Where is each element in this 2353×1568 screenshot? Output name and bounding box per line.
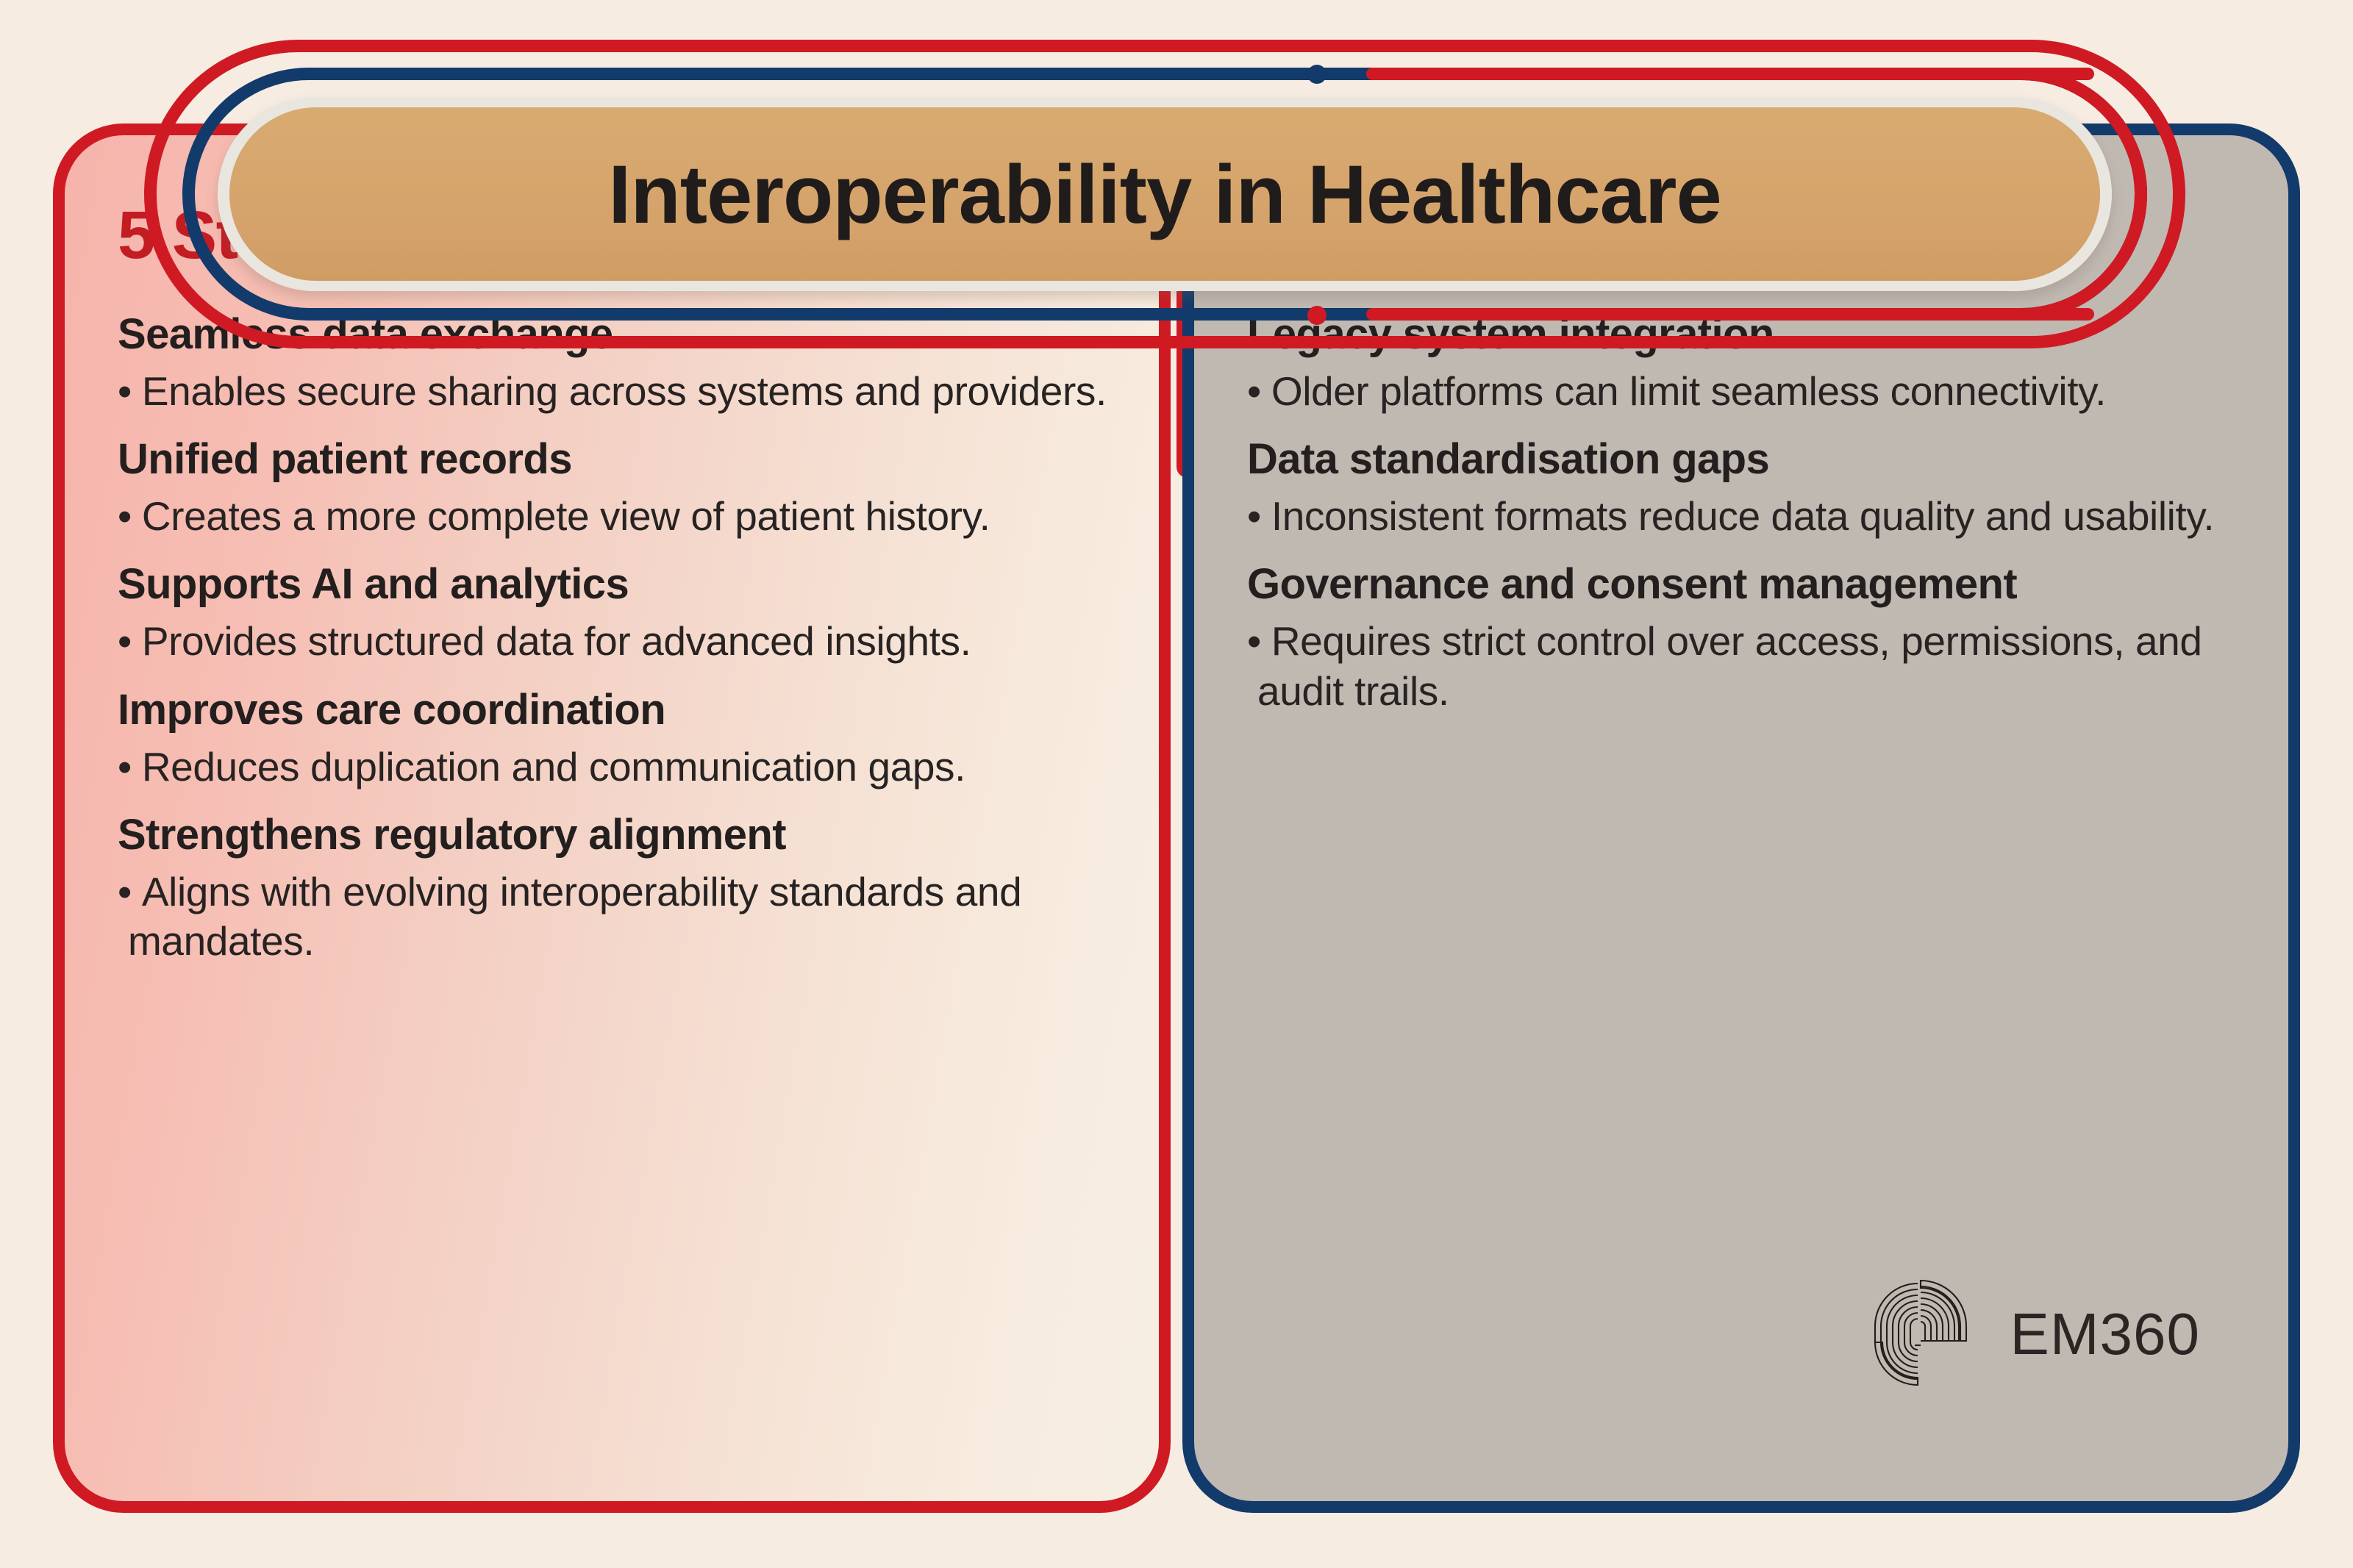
infographic-canvas: 5 Strategic Benefits Seamless data excha… [0, 0, 2353, 1568]
benefit-description: •Enables secure sharing across systems a… [118, 367, 1107, 416]
challenge-item: Data standardisation gaps •Inconsistent … [1247, 432, 2237, 541]
benefit-description-text: Enables secure sharing across systems an… [142, 368, 1107, 414]
bullet-icon: • [118, 869, 132, 914]
banner-mid-red-top-line [1366, 68, 2094, 80]
challenge-item: Governance and consent management •Requi… [1247, 557, 2237, 715]
benefit-description: •Creates a more complete view of patient… [118, 492, 1107, 541]
bullet-icon: • [1247, 493, 1261, 539]
header-banner: Interoperability in Healthcare [144, 40, 2185, 348]
bullet-icon: • [1247, 368, 1261, 414]
benefit-heading: Improves care coordination [118, 683, 1107, 737]
banner-mid-red-bottom-line [1366, 308, 2094, 321]
challenge-description: •Older platforms can limit seamless conn… [1247, 367, 2237, 416]
benefit-description: •Provides structured data for advanced i… [118, 617, 1107, 666]
benefit-description-text: Provides structured data for advanced in… [142, 618, 971, 664]
banner-pill: Interoperability in Healthcare [229, 107, 2100, 281]
challenge-description: •Inconsistent formats reduce data qualit… [1247, 492, 2237, 541]
challenge-description-text: Inconsistent formats reduce data quality… [1271, 493, 2214, 539]
em360-logo-mark [1850, 1264, 1997, 1404]
challenge-heading: Data standardisation gaps [1247, 432, 2237, 486]
benefit-description-text: Reduces duplication and communication ga… [142, 744, 965, 790]
benefit-item: Improves care coordination •Reduces dupl… [118, 683, 1107, 792]
benefit-item: Strengthens regulatory alignment •Aligns… [118, 808, 1107, 966]
em360-logo: EM360 [1850, 1264, 2200, 1404]
benefit-heading: Unified patient records [118, 432, 1107, 486]
challenge-description: •Requires strict control over access, pe… [1247, 617, 2237, 715]
benefit-heading: Strengthens regulatory alignment [118, 808, 1107, 862]
benefit-description: •Aligns with evolving interoperability s… [118, 867, 1107, 966]
bullet-icon: • [118, 744, 132, 790]
banner-bottom-split-dot-icon [1307, 306, 1327, 325]
em360-wordmark: EM360 [2010, 1300, 2200, 1368]
benefit-description: •Reduces duplication and communication g… [118, 742, 1107, 792]
bullet-icon: • [118, 368, 132, 414]
benefit-heading: Supports AI and analytics [118, 557, 1107, 611]
benefit-item: Unified patient records •Creates a more … [118, 432, 1107, 541]
banner-top-split-dot-icon [1307, 65, 1327, 84]
bullet-icon: • [1247, 618, 1261, 664]
challenge-description-text: Requires strict control over access, per… [1257, 618, 2202, 713]
challenge-description-text: Older platforms can limit seamless conne… [1271, 368, 2106, 414]
benefit-item: Supports AI and analytics •Provides stru… [118, 557, 1107, 666]
bullet-icon: • [118, 618, 132, 664]
bullet-icon: • [118, 493, 132, 539]
banner-title: Interoperability in Healthcare [608, 147, 1721, 242]
benefit-description-text: Aligns with evolving interoperability st… [128, 869, 1021, 964]
benefit-description-text: Creates a more complete view of patient … [142, 493, 990, 539]
challenge-heading: Governance and consent management [1247, 557, 2237, 611]
